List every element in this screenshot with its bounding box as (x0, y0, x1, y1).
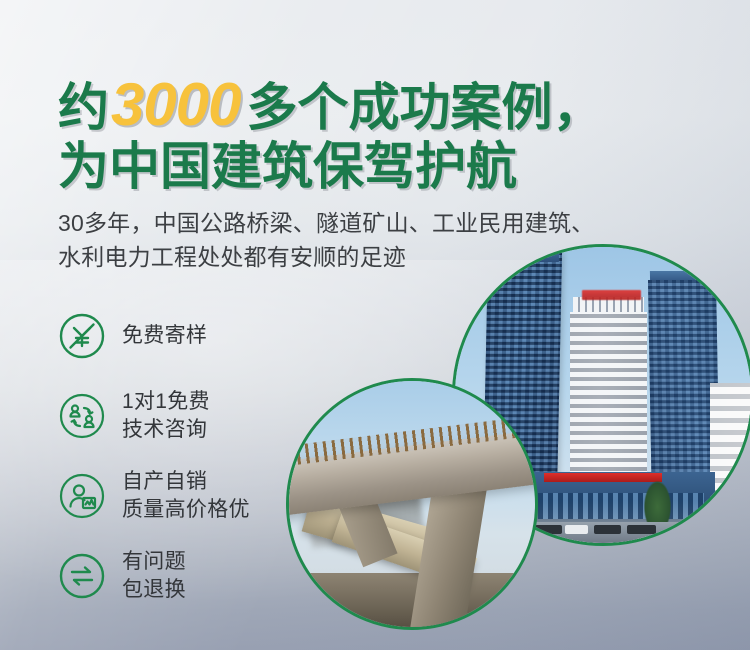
feature-line-1: 免费寄样 (122, 324, 207, 347)
bridge-photo-scene (289, 381, 535, 627)
far-right-building (710, 383, 750, 543)
headline-number: 3000 (109, 71, 246, 138)
free-yuan-icon (58, 312, 106, 360)
parked-car (627, 525, 657, 534)
feature-line-2: 技术咨询 (122, 416, 210, 444)
parked-car (535, 525, 562, 534)
headline-prefix: 约 (58, 79, 109, 136)
exchange-arrows-icon (58, 552, 106, 600)
feature-line-2: 包退换 (122, 576, 186, 604)
rooftop-sign (582, 290, 641, 300)
podium-glass-facade (538, 493, 704, 520)
parked-car (565, 525, 589, 534)
headline-line-2: 为中国建筑保驾护航 (58, 141, 718, 193)
left-tower-cap (484, 247, 558, 262)
feature-line-1: 自产自销 (122, 468, 250, 496)
feature-label: 自产自销 质量高价格优 (122, 468, 250, 523)
feature-label: 免费寄样 (122, 322, 207, 350)
two-people-exchange-icon (58, 392, 106, 440)
person-chart-icon (58, 472, 106, 520)
feature-label: 有问题 包退换 (122, 548, 186, 603)
headline: 约3000多个成功案例， 为中国建筑保驾护航 (58, 74, 718, 193)
promo-banner: 约3000多个成功案例， 为中国建筑保驾护航 30多年，中国公路桥梁、隧道矿山、… (0, 0, 750, 650)
headline-suffix: 多个成功案例， (247, 79, 604, 136)
feature-line-2: 质量高价格优 (122, 496, 250, 524)
parked-car (594, 525, 621, 534)
subtitle-line-1: 30多年，中国公路桥梁、隧道矿山、工业民用建筑、 (58, 207, 718, 241)
feature-line-1: 1对1免费 (122, 388, 210, 416)
street-tree (644, 481, 671, 528)
feature-label: 1对1免费 技术咨询 (122, 388, 210, 443)
headline-line-1: 约3000多个成功案例， (58, 74, 718, 135)
feature-item-free-sample: 免费寄样 (58, 296, 348, 376)
bridge-photo (286, 378, 538, 630)
feature-line-1: 有问题 (122, 548, 186, 576)
